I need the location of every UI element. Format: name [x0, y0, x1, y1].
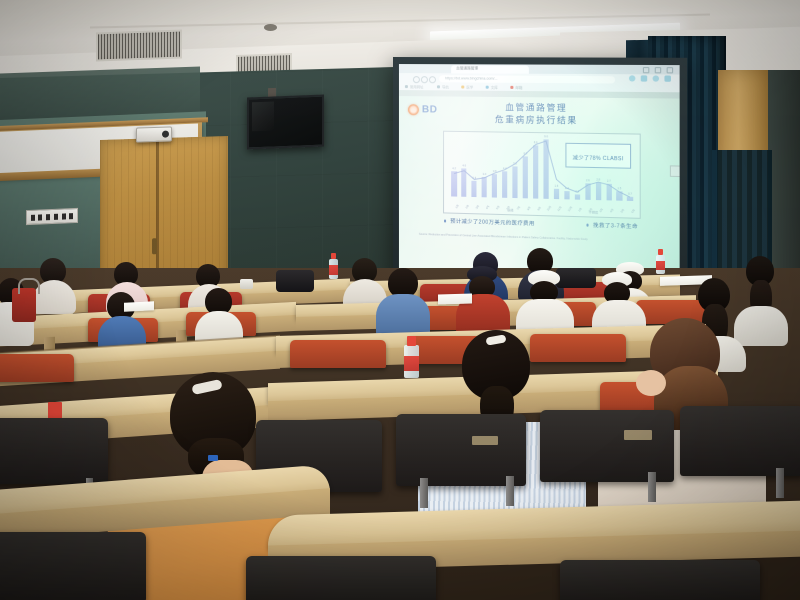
slide-bullets: 预计减少了200万美元的医疗费用 挽救了3-7条生命 [419, 217, 665, 231]
chart-x-tick: 5月 [495, 205, 501, 211]
address-bar-text: https://bd.www.bingchina.com/... [445, 76, 497, 80]
projector [136, 126, 172, 142]
chair[interactable] [0, 418, 108, 484]
handbag-strap [18, 278, 40, 294]
chart-callout: 减少了78% CLABSI [565, 143, 631, 169]
minimize-icon[interactable] [643, 67, 649, 73]
slide-bullet: 预计减少了200万美元的医疗费用 [444, 217, 535, 227]
chart-x-tick: 6月 [630, 208, 636, 214]
chart-axis-mark-2: 干预后 [589, 210, 599, 214]
chair-label [624, 430, 652, 440]
bookmark-item[interactable]: 导航 [442, 84, 449, 89]
chart-x-tick: 10月 [546, 205, 553, 212]
chart-x-tick: 8月 [525, 205, 531, 211]
scroll-thumb[interactable] [670, 165, 680, 177]
chart-x-tick: 12月 [567, 205, 574, 212]
chair-leg [420, 478, 428, 508]
bullet-dot-icon [444, 220, 447, 223]
window-controls[interactable] [630, 66, 673, 75]
bench-seat[interactable] [0, 354, 74, 382]
paper-handout[interactable] [438, 294, 472, 305]
bookmark-item[interactable]: 常用网址 [410, 84, 424, 89]
switch-icon[interactable] [54, 213, 58, 219]
door-seam [156, 138, 159, 288]
paper-cup[interactable] [240, 279, 253, 289]
bookmark-favicon [405, 85, 408, 88]
chart-axis-mark-1: 基线 [507, 208, 513, 212]
browser-tab[interactable]: 血管通路管理 [451, 65, 529, 73]
chart-callout-text: 减少了78% CLABSI [573, 155, 624, 162]
browser-tab-title: 血管通路管理 [456, 66, 478, 71]
browser-toolbar-icons[interactable] [629, 75, 671, 81]
switch-icon[interactable] [31, 214, 35, 220]
hand [636, 370, 666, 396]
switch-icon[interactable] [62, 213, 66, 219]
bookmark-item[interactable]: 邮箱 [515, 85, 522, 90]
bookmark-item[interactable]: 医学 [466, 85, 473, 90]
bookmark-favicon [461, 85, 464, 88]
bullet-text: 预计减少了200万美元的医疗费用 [450, 218, 535, 228]
bookmark-item[interactable]: 文库 [491, 85, 498, 90]
chart-x-tick: 7月 [515, 205, 521, 211]
close-icon[interactable] [667, 67, 673, 73]
chair[interactable] [0, 532, 146, 600]
chart-x-tick: 4月 [609, 208, 615, 214]
slide-title: 血管通路管理 危重病房执行结果 [399, 100, 680, 128]
bench-seat[interactable] [290, 340, 386, 368]
lecture-hall-photo: 血管通路管理 https://bd.www.bingchina.com/... [0, 0, 800, 600]
smoke-detector-icon [264, 24, 277, 31]
browser-window[interactable]: 血管通路管理 https://bd.www.bingchina.com/... [399, 64, 680, 92]
door-handle-icon[interactable] [152, 238, 157, 254]
switch-icon[interactable] [69, 213, 73, 219]
chair[interactable] [560, 560, 760, 600]
chair[interactable] [246, 556, 436, 600]
light-switch-panel[interactable] [26, 208, 78, 225]
account-icon[interactable] [629, 75, 635, 81]
black-bag[interactable] [276, 270, 314, 292]
bookmark-favicon [510, 85, 513, 88]
slide-chart: 4.21月4.62月2.63月3.44月3.85月4.46月5.27月6.88月… [443, 131, 641, 219]
slide-bullet: 挽救了3-7条生命 [586, 221, 638, 230]
blue-tag [208, 455, 218, 461]
chart-x-tick: 2月 [464, 204, 470, 210]
chart-x-tick: 3月 [474, 204, 480, 210]
chair-label [472, 436, 498, 445]
chart-x-tick: 11月 [556, 205, 563, 212]
chart-x-tick: 1月 [577, 207, 583, 213]
chart-x-tick: 9月 [536, 206, 542, 212]
back-icon[interactable] [413, 76, 420, 83]
switch-icon[interactable] [38, 214, 42, 220]
forward-icon[interactable] [421, 76, 428, 83]
chair[interactable] [680, 406, 800, 476]
chart-x-tick: 1月 [454, 203, 460, 209]
extension-icon[interactable] [641, 75, 647, 81]
water-bottle[interactable] [656, 249, 665, 274]
bookmark-favicon [486, 85, 489, 88]
download-icon[interactable] [653, 75, 659, 81]
address-bar[interactable]: https://bd.www.bingchina.com/... [439, 75, 615, 83]
switch-icon[interactable] [46, 214, 50, 220]
slide-footnote: Source: Reduction and Prevention of Cent… [419, 233, 667, 245]
water-bottle[interactable] [329, 253, 338, 279]
bookmark-favicon [437, 85, 440, 88]
slide-top-band [399, 90, 680, 99]
bullet-dot-icon [586, 224, 589, 227]
chart-x-tick: 4月 [484, 204, 490, 210]
wall-tv-monitor [247, 95, 324, 150]
menu-icon[interactable] [664, 75, 670, 81]
slide-title-line2: 危重病房执行结果 [399, 112, 680, 128]
chair-leg [648, 472, 656, 502]
screen-glare [252, 101, 274, 131]
water-bottle[interactable] [404, 336, 419, 378]
bullet-text: 挽救了3-7条生命 [593, 222, 638, 231]
projector-lens-icon [162, 130, 169, 137]
chair-leg [506, 476, 514, 506]
chair-leg [776, 468, 784, 498]
paper-handout[interactable] [124, 301, 154, 312]
reload-icon[interactable] [429, 76, 436, 83]
chart-x-tick: 5月 [619, 208, 625, 214]
air-vent-icon [96, 29, 182, 61]
chart-x-tick: 3月 [598, 207, 604, 213]
bench-seat[interactable] [530, 334, 626, 362]
black-bag[interactable] [556, 268, 596, 288]
maximize-icon[interactable] [655, 67, 661, 73]
